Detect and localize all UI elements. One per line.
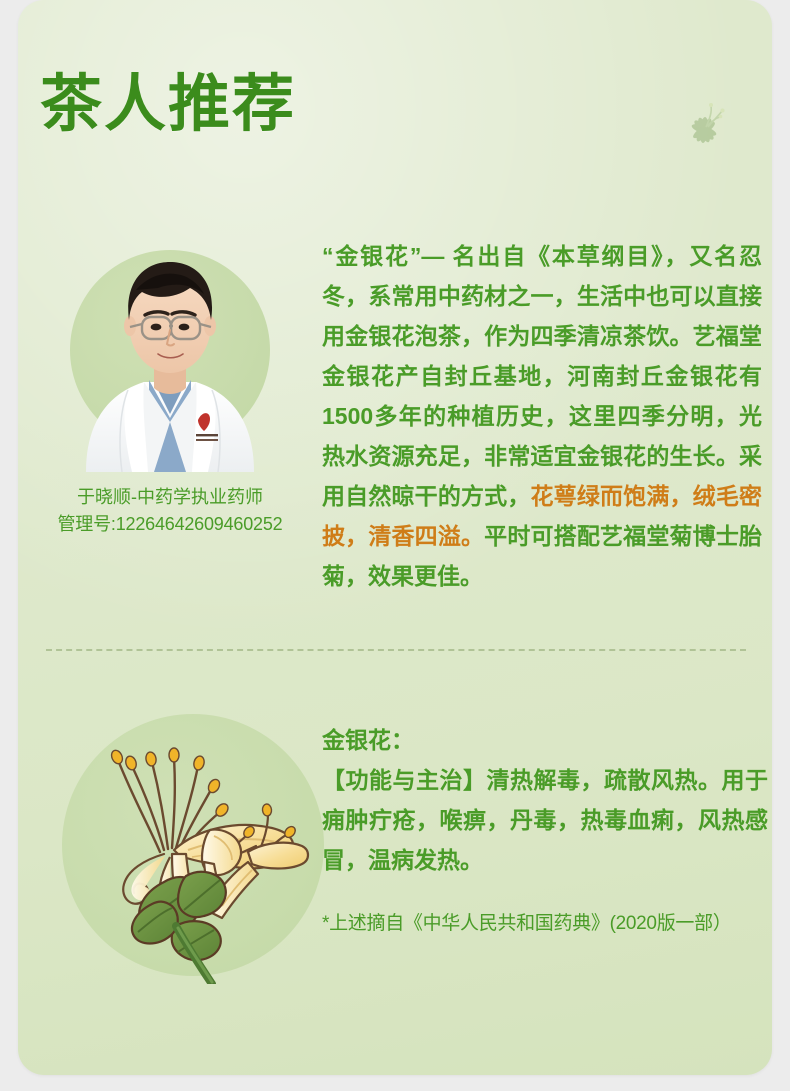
section-divider bbox=[46, 649, 746, 651]
recommendation-card: 茶人推荐 bbox=[18, 0, 772, 1075]
honeysuckle-flower-illustration bbox=[52, 704, 332, 984]
page-title: 茶人推荐 bbox=[40, 74, 296, 136]
herb-description: 【功能与主治】清热解毒，疏散风热。用于痈肿疔疮，喉痹，丹毒，热毒血痢，风热感冒，… bbox=[322, 760, 768, 880]
paragraph-part-1: “金银花”— 名出自《本草纲目》，又名忍冬，系常用中药材之一，生活中也可以直接用… bbox=[322, 243, 762, 509]
herb-media bbox=[34, 700, 324, 990]
doctor-portrait bbox=[50, 232, 290, 472]
card-header: 茶人推荐 bbox=[18, 0, 772, 210]
flower-sprig-icon bbox=[674, 94, 734, 154]
herb-text-block: 金银花： 【功能与主治】清热解毒，疏散风热。用于痈肿疔疮，喉痹，丹毒，热毒血痢，… bbox=[322, 720, 768, 938]
doctor-media: 于晓顺-中药学执业药师 管理号:12264642609460252 bbox=[30, 232, 310, 538]
doctor-caption: 于晓顺-中药学执业药师 管理号:12264642609460252 bbox=[30, 484, 310, 538]
doctor-recommendation-section: 于晓顺-中药学执业药师 管理号:12264642609460252 “金银花”—… bbox=[18, 218, 772, 618]
doctor-license-id: 管理号:12264642609460252 bbox=[30, 511, 310, 538]
doctor-name: 于晓顺-中药学执业药师 bbox=[30, 484, 310, 511]
herb-name-label: 金银花： bbox=[322, 720, 768, 760]
herb-source-note: *上述摘自《中华人民共和国药典》(2020版一部） bbox=[322, 910, 768, 938]
herb-info-section: 金银花： 【功能与主治】清热解毒，疏散风热。用于痈肿疔疮，喉痹，丹毒，热毒血痢，… bbox=[18, 690, 772, 1020]
doctor-recommendation-paragraph: “金银花”— 名出自《本草纲目》，又名忍冬，系常用中药材之一，生活中也可以直接用… bbox=[322, 236, 762, 596]
